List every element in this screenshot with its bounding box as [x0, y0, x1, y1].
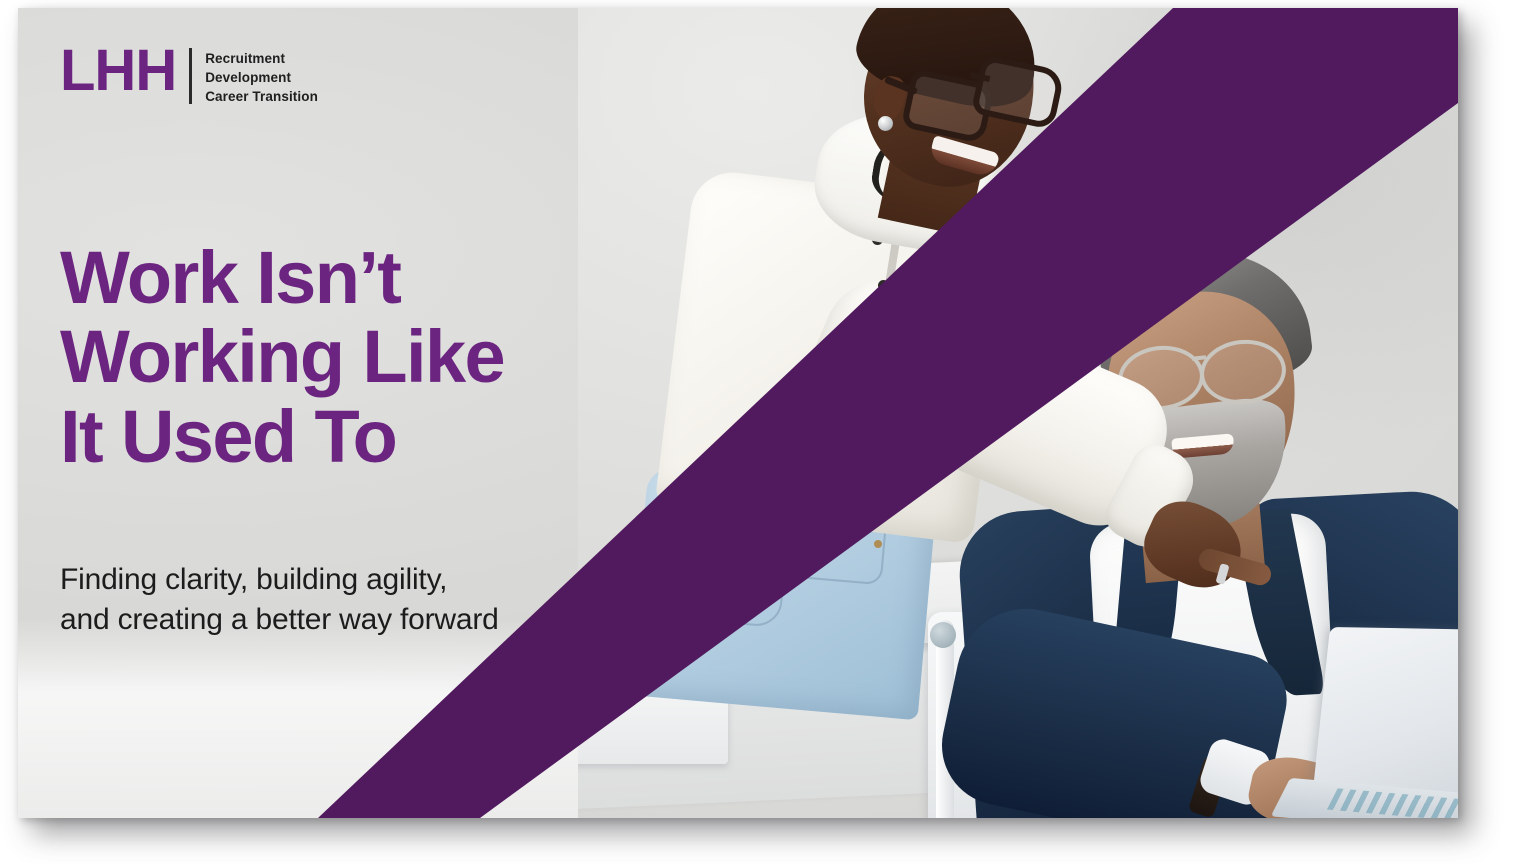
woman-blazer-button	[884, 326, 895, 337]
woman-jeans-rivet	[810, 528, 818, 536]
headline-line-3: It Used To	[60, 397, 660, 477]
headline-line-1: Work Isn’t	[60, 238, 660, 318]
woman-jeans-pocket-left	[684, 532, 787, 628]
lhh-wordmark: LHH	[60, 46, 176, 96]
lhh-logo[interactable]: LHH Recruitment Development Career Trans…	[60, 46, 318, 106]
logo-service-development: Development	[205, 68, 318, 87]
logo-services-list: Recruitment Development Career Transitio…	[205, 46, 318, 106]
woman-blazer-button	[878, 280, 889, 291]
logo-divider-rule	[189, 48, 192, 104]
logo-service-recruitment: Recruitment	[205, 49, 318, 68]
subheadline-line-2: and creating a better way forward	[60, 600, 640, 640]
subheadline-line-1: Finding clarity, building agility,	[60, 560, 640, 600]
screenshot-canvas: LHH Recruitment Development Career Trans…	[0, 0, 1536, 864]
two-colleagues-at-desk-photo	[578, 8, 1458, 818]
slide-headline: Work Isn’t Working Like It Used To	[60, 238, 660, 478]
woman-pearl-earring	[878, 116, 893, 131]
standing-woman	[578, 8, 1138, 818]
logo-service-career-transition: Career Transition	[205, 87, 318, 106]
woman-jeans-rivet	[874, 540, 882, 548]
headline-line-2: Working Like	[60, 317, 660, 397]
presentation-slide: LHH Recruitment Development Career Trans…	[18, 8, 1458, 818]
slide-subheadline: Finding clarity, building agility, and c…	[60, 560, 640, 640]
